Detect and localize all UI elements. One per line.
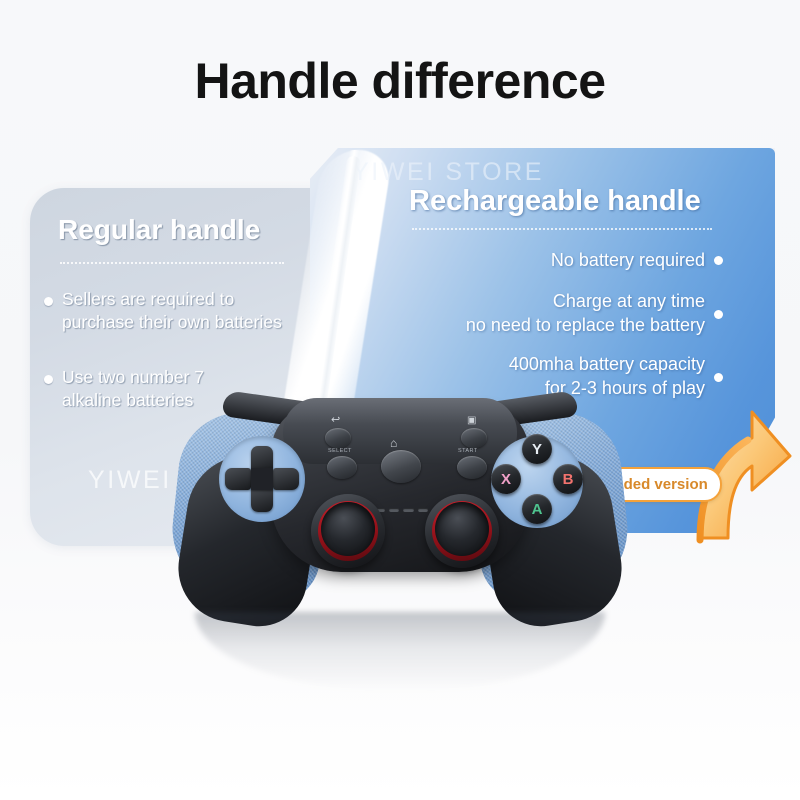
- button-b[interactable]: B: [553, 464, 583, 494]
- page-title: Handle difference: [0, 52, 800, 110]
- capture-button[interactable]: [461, 428, 487, 448]
- regular-bullet-1: Sellers are required to purchase their o…: [62, 288, 352, 334]
- bullet-dot-icon: [714, 373, 723, 382]
- select-button[interactable]: [327, 456, 357, 479]
- button-b-label: B: [563, 471, 574, 488]
- back-arrow-icon: ↩: [331, 415, 340, 426]
- regular-bullet-2-line-1: Use two number 7: [62, 367, 204, 387]
- bullet-dot-icon: [714, 310, 723, 319]
- bullet-dot-icon: [714, 256, 723, 265]
- dpad-left-button[interactable]: [225, 468, 251, 490]
- button-a-label: A: [532, 501, 543, 518]
- right-analog-stick[interactable]: [425, 494, 499, 568]
- gamepad-illustration: ↩ ▣ SELECT START ⌂ Y X B A: [175, 398, 625, 623]
- led-2: [389, 508, 400, 512]
- button-y-label: Y: [532, 441, 542, 458]
- capture-icon: ▣: [467, 415, 476, 426]
- rechargeable-bullet-2-line-2: no need to replace the battery: [466, 315, 705, 335]
- left-analog-stick[interactable]: [311, 494, 385, 568]
- rechargeable-handle-heading: Rechargeable handle: [409, 185, 729, 218]
- home-icon: ⌂: [390, 438, 397, 449]
- rechargeable-handle-divider: [412, 228, 712, 230]
- regular-bullet-1-line-1: Sellers are required to: [62, 289, 234, 309]
- infographic-canvas: Handle difference YIWEI STORE YIWEI STOR…: [0, 0, 800, 800]
- dpad-right-button[interactable]: [273, 468, 299, 490]
- rechargeable-bullet-3-line-1: 400mha battery capacity: [509, 354, 705, 374]
- regular-handle-divider: [60, 262, 284, 264]
- bullet-dot-icon: [44, 375, 53, 384]
- led-indicator-strip: [374, 508, 428, 515]
- start-label: START: [458, 448, 478, 454]
- regular-handle-heading: Regular handle: [58, 214, 338, 246]
- back-button[interactable]: [325, 428, 351, 448]
- rechargeable-bullet-2-line-1: Charge at any time: [553, 291, 705, 311]
- led-4: [418, 508, 429, 512]
- rechargeable-bullet-2: Charge at any time no need to replace th…: [400, 289, 705, 337]
- home-button[interactable]: [381, 450, 421, 483]
- regular-bullet-1-line-2: purchase their own batteries: [62, 312, 282, 332]
- bullet-dot-icon: [44, 297, 53, 306]
- dpad-center: [251, 468, 273, 490]
- button-a[interactable]: A: [522, 494, 552, 524]
- led-3: [403, 508, 414, 512]
- button-x-label: X: [501, 471, 511, 488]
- select-label: SELECT: [328, 448, 352, 454]
- rechargeable-bullet-1: No battery required: [420, 248, 705, 272]
- start-button[interactable]: [457, 456, 487, 479]
- gamepad-reflection: [195, 612, 605, 692]
- regular-bullet-2-line-2: alkaline batteries: [62, 390, 193, 410]
- button-y[interactable]: Y: [522, 434, 552, 464]
- button-x[interactable]: X: [491, 464, 521, 494]
